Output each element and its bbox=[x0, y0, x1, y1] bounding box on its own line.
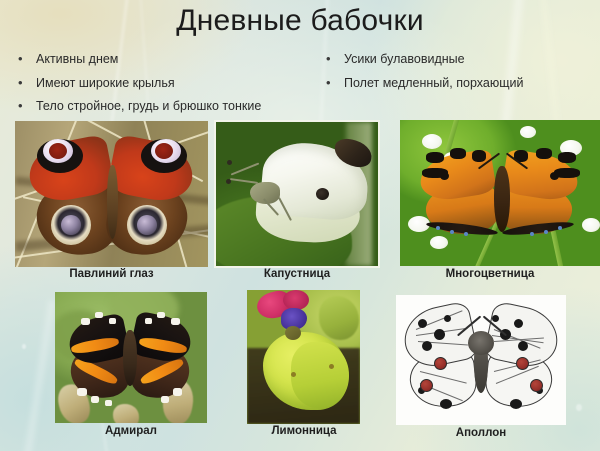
figure-caption-peacock-butterfly: Павлиний глаз bbox=[15, 268, 208, 280]
bullet-text: Усики булавовидные bbox=[344, 53, 596, 66]
bullet-item: • Усики булавовидные bbox=[326, 52, 596, 66]
figure-caption-tortoiseshell-butterfly: Многоцветница bbox=[400, 268, 580, 280]
bullet-text: Полет медленный, порхающий bbox=[344, 77, 596, 90]
figure-image-apollo-butterfly bbox=[396, 295, 566, 425]
bullet-item: • Тело стройное, грудь и брюшко тонкие bbox=[18, 99, 330, 113]
figure-image-tortoiseshell-butterfly bbox=[400, 120, 600, 266]
bullet-marker-icon: • bbox=[18, 52, 36, 65]
figure-image-peacock-butterfly bbox=[15, 121, 208, 267]
bullet-text: Тело стройное, грудь и брюшко тонкие bbox=[36, 100, 330, 113]
bullet-marker-icon: • bbox=[18, 76, 36, 89]
bullet-list-left: • Активны днем • Имеют широкие крылья • … bbox=[18, 52, 330, 123]
bullet-marker-icon: • bbox=[18, 99, 36, 112]
bullet-marker-icon: • bbox=[326, 76, 344, 89]
figure-caption-apollo-butterfly: Аполлон bbox=[396, 427, 566, 439]
figure-image-brimstone-butterfly bbox=[247, 290, 360, 424]
bullet-item: • Полет медленный, порхающий bbox=[326, 76, 596, 90]
bullet-item: • Имеют широкие крылья bbox=[18, 76, 330, 90]
figure-image-cabbage-white-butterfly bbox=[216, 122, 378, 266]
bullet-text: Активны днем bbox=[36, 53, 330, 66]
figure-caption-brimstone-butterfly: Лимонница bbox=[244, 425, 364, 437]
figure-caption-red-admiral-butterfly: Адмирал bbox=[55, 425, 207, 437]
figure-caption-cabbage-white-butterfly: Капустница bbox=[216, 268, 378, 280]
bullet-list-right: • Усики булавовидные • Полет медленный, … bbox=[326, 52, 596, 99]
slide-title: Дневные бабочки bbox=[0, 4, 600, 39]
bullet-text: Имеют широкие крылья bbox=[36, 77, 330, 90]
bullet-item: • Активны днем bbox=[18, 52, 330, 66]
figure-image-red-admiral-butterfly bbox=[55, 292, 207, 423]
slide-canvas: Дневные бабочки • Активны днем • Имеют ш… bbox=[0, 0, 600, 451]
bullet-marker-icon: • bbox=[326, 52, 344, 65]
